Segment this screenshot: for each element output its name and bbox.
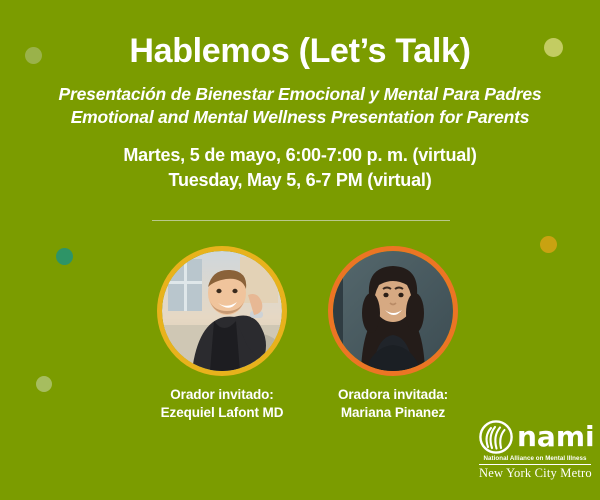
speaker-caption-left: Orador invitado: Ezequiel Lafont MD xyxy=(137,386,307,422)
nami-chapter-name: New York City Metro xyxy=(479,466,591,481)
nami-tagline: National Alliance on Mental Illness xyxy=(479,455,591,462)
nami-swirl-icon xyxy=(479,420,513,454)
flyer-subtitle: Presentación de Bienestar Emocional y Me… xyxy=(0,83,600,129)
speaker-name-right: Mariana Pinanez xyxy=(308,404,478,422)
section-divider xyxy=(152,220,450,221)
speaker-photo-mariana-pinanez xyxy=(328,246,458,376)
speaker-caption-right: Oradora invitada: Mariana Pinanez xyxy=(308,386,478,422)
nami-divider xyxy=(479,464,591,465)
speaker-section: Orador invitado: Ezequiel Lafont MD xyxy=(0,246,600,426)
nami-wordmark: nami xyxy=(517,423,595,451)
portrait-image-left xyxy=(162,251,282,371)
speaker-role-right: Oradora invitada: xyxy=(308,386,478,404)
subtitle-spanish: Presentación de Bienestar Emocional y Me… xyxy=(0,83,600,106)
nami-logo: nami National Alliance on Mental Illness… xyxy=(479,420,591,482)
portrait-image-right xyxy=(333,251,453,371)
speaker-card-right: Oradora invitada: Mariana Pinanez xyxy=(308,246,478,422)
datetime-spanish: Martes, 5 de mayo, 6:00-7:00 p. m. (virt… xyxy=(0,143,600,168)
datetime-english: Tuesday, May 5, 6-7 PM (virtual) xyxy=(0,168,600,193)
flyer-datetime: Martes, 5 de mayo, 6:00-7:00 p. m. (virt… xyxy=(0,143,600,193)
speaker-photo-ezequiel-lafont xyxy=(157,246,287,376)
nami-logo-top: nami xyxy=(479,420,591,454)
event-flyer: Hablemos (Let’s Talk) Presentación de Bi… xyxy=(0,0,600,500)
speaker-name-left: Ezequiel Lafont MD xyxy=(137,404,307,422)
speaker-role-left: Orador invitado: xyxy=(137,386,307,404)
subtitle-english: Emotional and Mental Wellness Presentati… xyxy=(0,106,600,129)
speaker-card-left: Orador invitado: Ezequiel Lafont MD xyxy=(137,246,307,422)
flyer-title: Hablemos (Let’s Talk) xyxy=(0,30,600,72)
